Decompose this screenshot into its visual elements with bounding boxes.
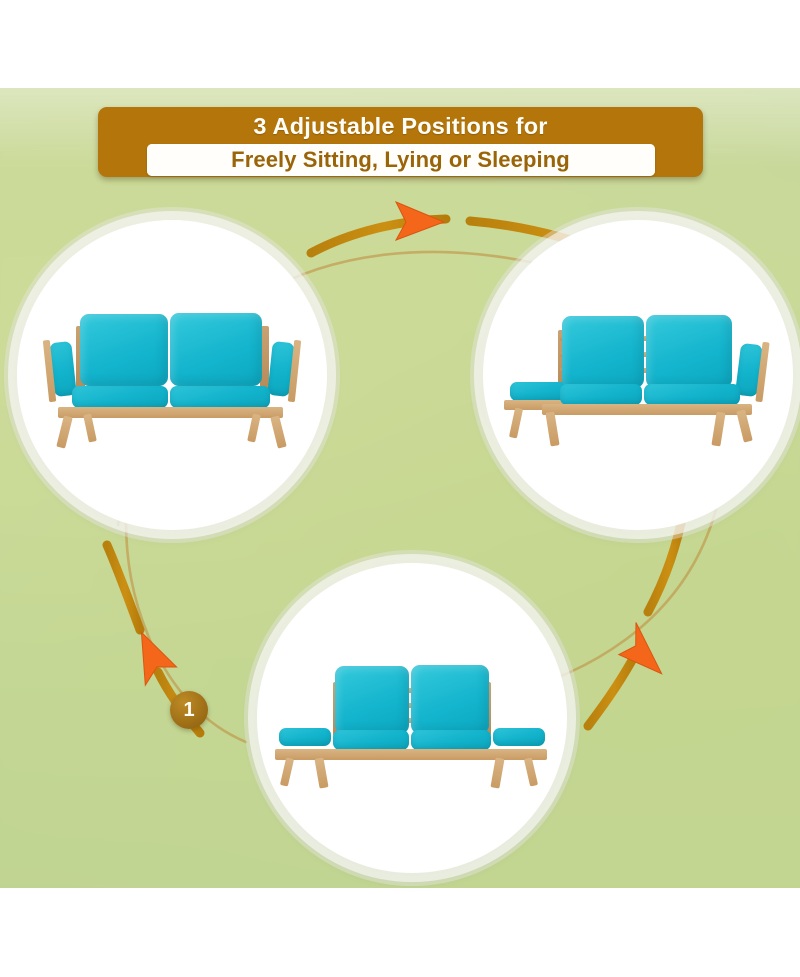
leg-front-right (490, 757, 504, 788)
leg-extension-left (280, 757, 294, 786)
leg-back-right (711, 412, 725, 447)
sofa-chaise (500, 300, 776, 450)
seat-cushion-left (72, 386, 168, 408)
back-pillow-right (646, 315, 732, 388)
sofa-upright (38, 300, 306, 450)
leg-front-right (270, 415, 286, 448)
leg-extension-right (524, 757, 538, 786)
headline-line-1: 3 Adjustable Positions for (253, 115, 547, 139)
arrow-3-to-1-shaft-upper (107, 545, 140, 630)
leg-front-left (545, 412, 559, 447)
position-panel-2[interactable]: 2 (483, 220, 793, 530)
sofa-daybed (271, 648, 553, 788)
position-panel-3[interactable]: 3 (257, 563, 567, 873)
back-pillow-right (411, 665, 489, 734)
product-image-position-3 (257, 563, 567, 873)
position-panel-1[interactable]: 1 (17, 220, 327, 530)
back-pillow-left (335, 666, 409, 734)
seat-cushion-left (560, 384, 642, 405)
headline-subtitle-box: Freely Sitting, Lying or Sleeping (147, 144, 655, 176)
headline-banner: 3 Adjustable Positions for Freely Sittin… (98, 107, 703, 177)
back-pillow-left (562, 316, 644, 388)
leg-extension-left (509, 407, 523, 438)
product-image-position-1 (17, 220, 327, 530)
seat-cushion-right (644, 384, 740, 405)
seat-cushion-right (170, 386, 270, 408)
headline-line-2: Freely Sitting, Lying or Sleeping (231, 149, 570, 171)
extension-cushion-right (493, 728, 545, 746)
extension-cushion-left (279, 728, 331, 746)
arrow-2-to-3-shaft-lower (588, 655, 635, 726)
seat-cushion-right (411, 730, 491, 750)
position-badge-1: 1 (170, 691, 208, 729)
infographic-canvas: 3 Adjustable Positions for Freely Sittin… (0, 0, 800, 977)
leg-front-left (314, 757, 328, 788)
back-pillow-left (80, 314, 168, 386)
leg-front-left (56, 415, 72, 448)
product-image-position-2 (483, 220, 793, 530)
seat-cushion-left (333, 730, 409, 750)
back-pillow-right (170, 313, 262, 386)
